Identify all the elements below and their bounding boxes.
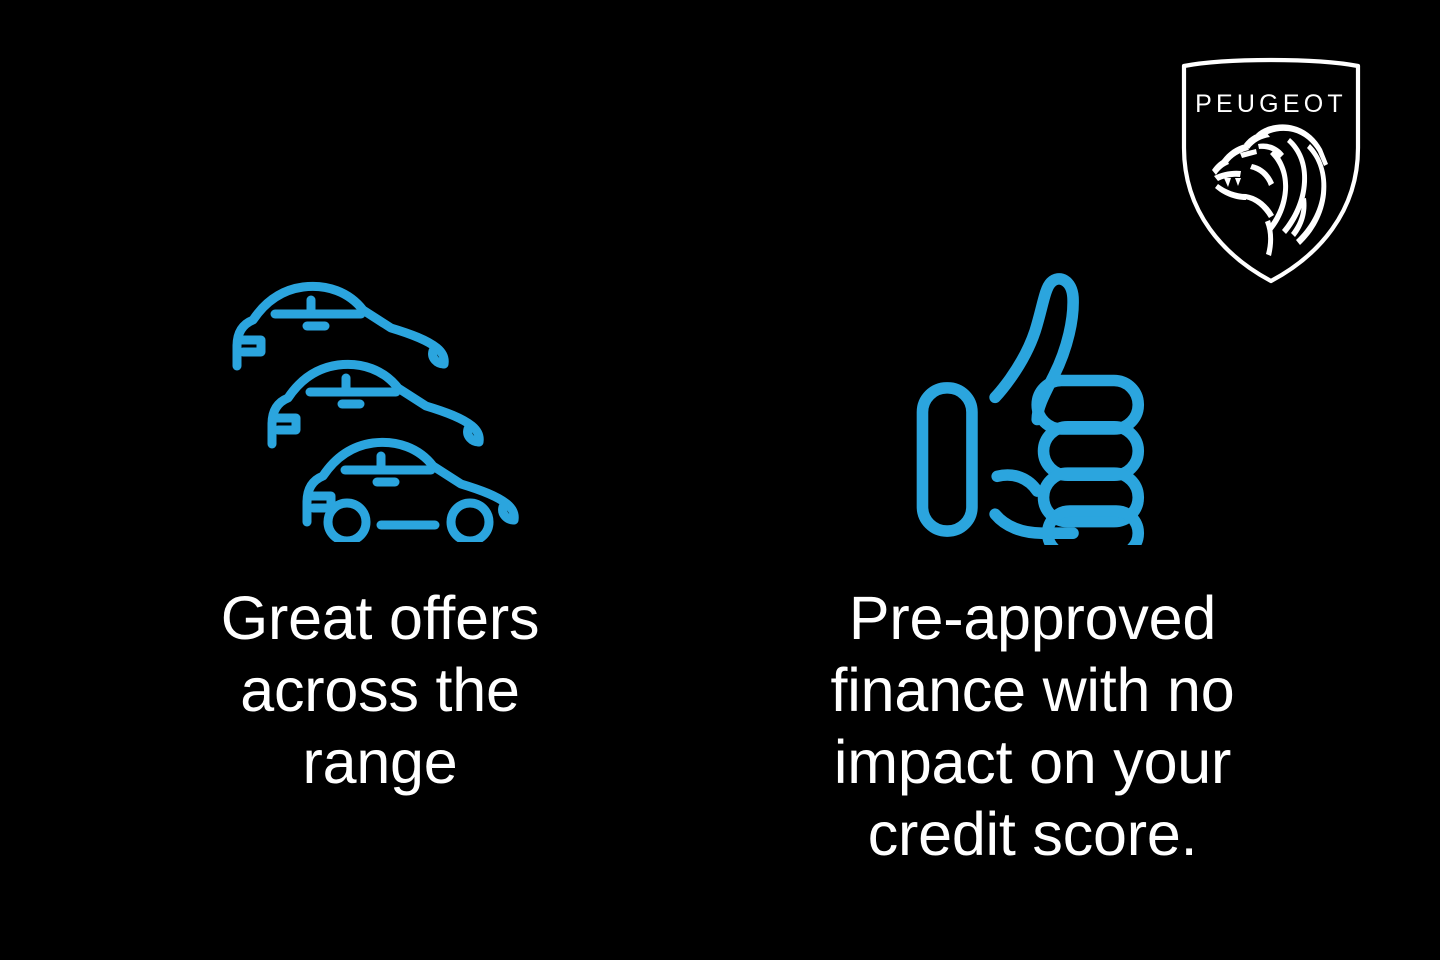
feature-finance-caption: Pre-approved finance with no impact on y… <box>756 583 1309 871</box>
peugeot-shield-logo: PEUGEOT <box>1178 52 1364 286</box>
thumbs-up-icon <box>913 270 1153 545</box>
lion-head-icon <box>1212 124 1328 256</box>
feature-offers-caption: Great offers across the range <box>161 583 599 799</box>
brand-wordmark: PEUGEOT <box>1195 90 1347 118</box>
promo-banner: PEUGEOT <box>0 0 1440 960</box>
thumb-wrist-bar <box>922 388 971 531</box>
car-wheel-front-left <box>328 503 366 541</box>
feature-pre-approved-finance: Pre-approved finance with no impact on y… <box>745 270 1320 871</box>
three-cars-icon <box>215 270 545 545</box>
feature-great-offers: Great offers across the range <box>100 270 660 799</box>
car-outline-front <box>307 442 514 541</box>
car-wheel-front-right <box>451 503 489 541</box>
car-outline-back <box>237 286 444 366</box>
knuckle-crease <box>997 475 1037 491</box>
car-outline-middle <box>272 364 479 444</box>
